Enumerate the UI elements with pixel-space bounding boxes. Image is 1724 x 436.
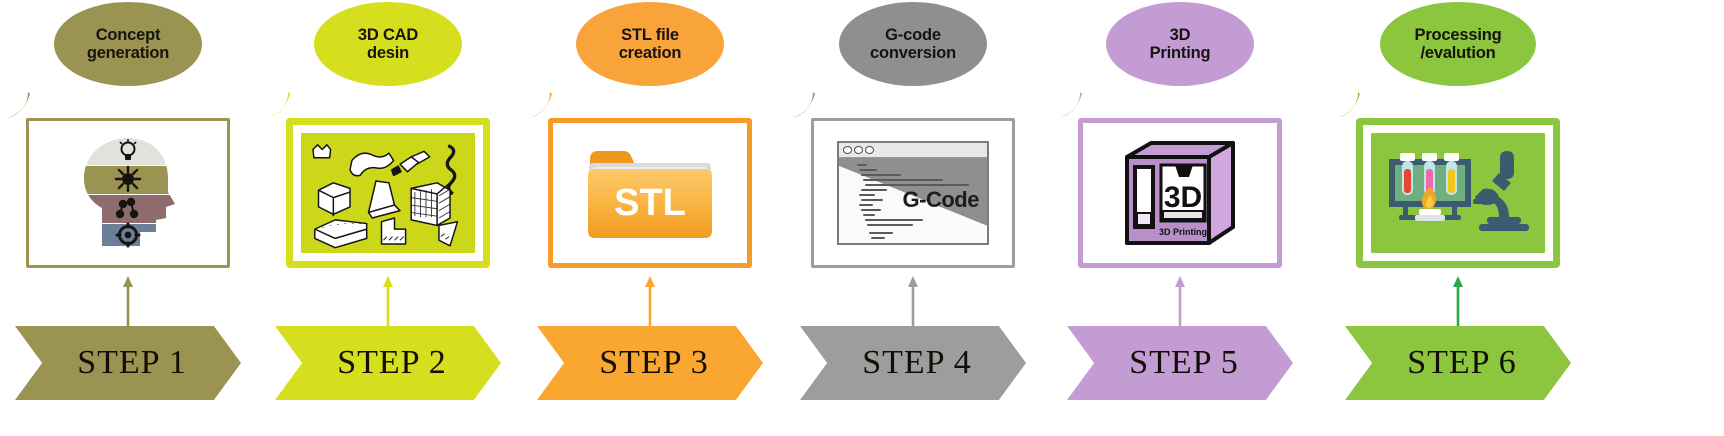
bubble-body-6: Processing /evalution xyxy=(1380,2,1536,86)
step-banner-label-1: STEP 1 xyxy=(77,344,187,382)
speech-bubble-2: 3D CAD desin xyxy=(252,2,524,106)
bubble-tail-icon-3 xyxy=(528,92,558,120)
microscope-icon xyxy=(1473,151,1529,231)
gcode-window-body: G-Code xyxy=(839,158,987,245)
process-diagram: Concept generation xyxy=(0,0,1724,436)
step-column-1: Concept generation xyxy=(0,0,264,436)
bubble-label-3: STL file creation xyxy=(613,26,688,63)
step-banner-4[interactable]: STEP 4 xyxy=(800,326,1026,400)
step-banner-2[interactable]: STEP 2 xyxy=(275,326,501,400)
step-column-2: 3D CAD desin xyxy=(252,0,524,436)
image-frame-1 xyxy=(26,118,230,268)
3d-printer-icon: 3D 3D Printing xyxy=(1119,135,1241,251)
wedge-icon xyxy=(439,222,458,246)
frame-content-6 xyxy=(1363,125,1553,261)
bubble-label-2: 3D CAD desin xyxy=(352,26,424,63)
connector-arrow-3 xyxy=(641,276,659,334)
frame-content-4: G-Code xyxy=(814,121,1012,265)
frame-content-1 xyxy=(29,121,227,265)
printer-3d-label: 3D xyxy=(1164,181,1202,214)
frame-content-3: STL xyxy=(553,123,747,263)
gcode-window-icon: G-Code xyxy=(837,141,989,245)
slab-icon xyxy=(315,220,367,248)
bubble-body-3: STL file creation xyxy=(576,2,724,86)
image-frame-5: 3D 3D Printing xyxy=(1078,118,1282,268)
image-frame-2 xyxy=(286,118,490,268)
bubble-tail-icon-4 xyxy=(791,92,821,120)
bubble-tail-icon-2 xyxy=(266,92,296,120)
connector-arrow-2 xyxy=(379,276,397,334)
image-frame-4: G-Code xyxy=(811,118,1015,268)
image-frame-3: STL xyxy=(548,118,752,268)
window-dot-3-icon xyxy=(865,146,874,154)
gear-burst-icon xyxy=(116,167,140,191)
image-frame-6 xyxy=(1356,118,1560,268)
stl-folder-label: STL xyxy=(614,182,686,224)
connector-arrow-1 xyxy=(119,276,137,334)
speech-bubble-3: STL file creation xyxy=(514,2,786,106)
step-column-4: G-code conversion xyxy=(777,0,1049,436)
bubble-label-1: Concept generation xyxy=(81,26,175,63)
step-banner-label-4: STEP 4 xyxy=(862,344,972,382)
printer-bed xyxy=(1163,211,1203,219)
step-banner-6[interactable]: STEP 6 xyxy=(1345,326,1571,400)
gcode-window-label: G-Code xyxy=(903,187,979,213)
step-banner-1[interactable]: STEP 1 xyxy=(15,326,241,400)
stl-folder-icon: STL xyxy=(584,139,716,247)
bubble-body-5: 3D Printing xyxy=(1106,2,1254,86)
step-banner-5[interactable]: STEP 5 xyxy=(1067,326,1293,400)
bubble-label-4: G-code conversion xyxy=(864,26,962,63)
test-tube-yellow-icon xyxy=(1444,153,1459,195)
step-banner-label-5: STEP 5 xyxy=(1129,344,1239,382)
bubble-label-6: Processing /evalution xyxy=(1409,26,1508,63)
spring-icon xyxy=(447,146,454,194)
bubble-tail-icon-5 xyxy=(1058,92,1088,120)
step-banner-label-2: STEP 2 xyxy=(337,344,447,382)
cad-shapes-icon xyxy=(300,132,476,254)
printer-side-face xyxy=(1209,143,1233,243)
gcode-window-titlebar xyxy=(839,143,987,158)
head-thinking-icon xyxy=(76,134,180,252)
bubble-body-2: 3D CAD desin xyxy=(314,2,462,86)
bubble-body-1: Concept generation xyxy=(54,2,202,86)
cube-icon xyxy=(319,183,350,214)
window-dot-1-icon xyxy=(843,146,852,154)
frame-content-5: 3D 3D Printing xyxy=(1083,123,1277,263)
printer-caption-label: 3D Printing xyxy=(1159,227,1207,237)
folder-tab xyxy=(590,151,635,165)
bone-icon xyxy=(350,153,394,176)
bubble-body-4: G-code conversion xyxy=(839,2,987,86)
cone-tip-icon xyxy=(392,166,401,175)
step-banner-3[interactable]: STEP 3 xyxy=(537,326,763,400)
speech-bubble-1: Concept generation xyxy=(0,2,264,106)
speech-bubble-5: 3D Printing xyxy=(1044,2,1316,106)
window-dot-2-icon xyxy=(854,146,863,154)
connector-arrow-5 xyxy=(1171,276,1189,334)
connector-arrow-6 xyxy=(1449,276,1467,334)
step-banner-label-3: STEP 3 xyxy=(599,344,709,382)
speech-bubble-6: Processing /evalution xyxy=(1322,2,1594,106)
bubble-tail-icon-6 xyxy=(1336,92,1366,120)
frame-content-2 xyxy=(293,125,483,261)
step-column-6: Processing /evalution xyxy=(1322,0,1594,436)
step-column-3: STL file creation xyxy=(514,0,786,436)
bracket-icon xyxy=(382,218,406,244)
speech-bubble-4: G-code conversion xyxy=(777,2,1049,106)
test-tube-red-icon xyxy=(1400,153,1415,195)
bubble-label-5: 3D Printing xyxy=(1144,26,1217,63)
step-banner-label-6: STEP 6 xyxy=(1407,344,1517,382)
bubble-tail-icon-1 xyxy=(6,92,36,120)
step-column-5: 3D Printing 3D xyxy=(1044,0,1316,436)
connector-arrow-4 xyxy=(904,276,922,334)
tulip-icon xyxy=(313,145,331,158)
lab-test-tubes-microscope-icon xyxy=(1383,145,1533,241)
